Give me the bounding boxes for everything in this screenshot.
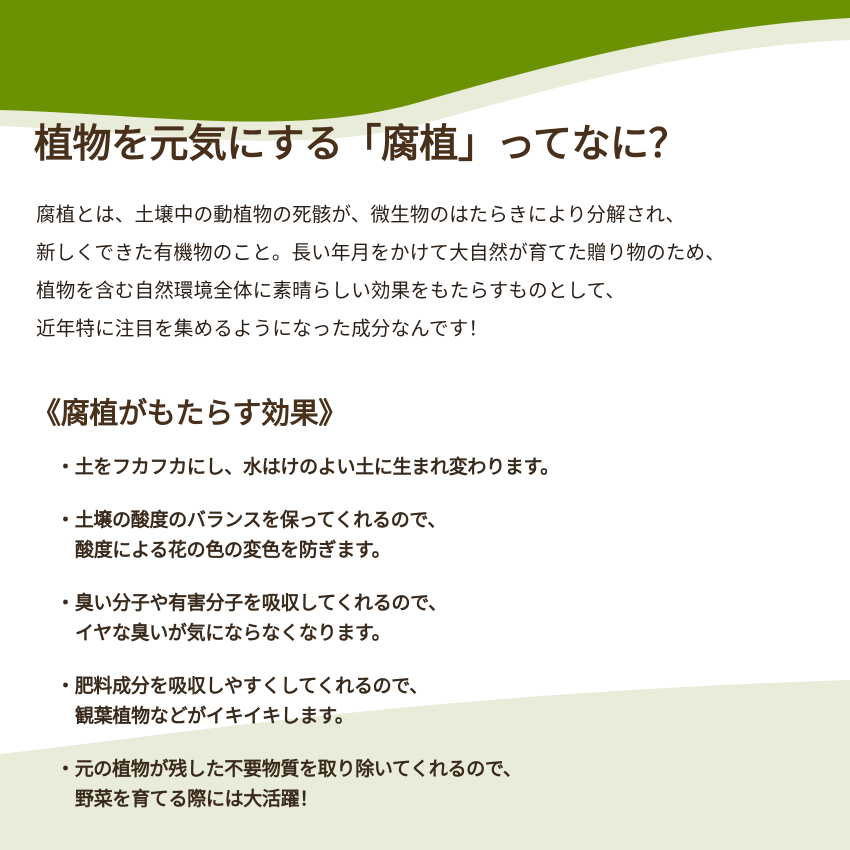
intro-line-4: 近年特に注目を集めるようになった成分なんです！: [36, 310, 836, 348]
effects-section-heading: 《腐植がもたらす効果》: [32, 398, 347, 430]
intro-paragraph: 腐植とは、土壌中の動植物の死骸が、微生物のはたらきにより分解され、 新しくできた…: [36, 196, 836, 348]
effect-2-line-2: 酸度による花の色の変色を防ぎます。: [56, 535, 826, 565]
list-item: ・土をフカフカにし、水はけのよい土に生まれ変わります。: [56, 452, 826, 482]
list-item: ・肥料成分を吸収しやすくしてくれるので、 観葉植物などがイキイキします。: [56, 671, 826, 731]
effect-3-line-1: ・臭い分子や有害分子を吸収してくれるので、: [56, 588, 826, 618]
page-content: 植物を元気にする「腐植」ってなに？ 腐植とは、土壌中の動植物の死骸が、微生物のは…: [0, 0, 850, 850]
list-item: ・土壌の酸度のバランスを保ってくれるので、 酸度による花の色の変色を防ぎます。: [56, 505, 826, 565]
infographic-page: 植物を元気にする「腐植」ってなに？ 腐植とは、土壌中の動植物の死骸が、微生物のは…: [0, 0, 850, 850]
list-item: ・元の植物が残した不要物質を取り除いてくれるので、 野菜を育てる際には大活躍！: [56, 754, 826, 814]
page-title: 植物を元気にする「腐植」ってなに？: [34, 123, 687, 167]
intro-line-1: 腐植とは、土壌中の動植物の死骸が、微生物のはたらきにより分解され、: [36, 196, 836, 234]
effect-1-line-1: ・土をフカフカにし、水はけのよい土に生まれ変わります。: [56, 452, 826, 482]
intro-line-3: 植物を含む自然環境全体に素晴らしい効果をもたらすものとして、: [36, 272, 836, 310]
intro-line-2: 新しくできた有機物のこと。長い年月をかけて大自然が育てた贈り物のため、: [36, 234, 836, 272]
effect-2-line-1: ・土壌の酸度のバランスを保ってくれるので、: [56, 505, 826, 535]
effect-5-line-2: 野菜を育てる際には大活躍！: [56, 784, 826, 814]
effect-5-line-1: ・元の植物が残した不要物質を取り除いてくれるので、: [56, 754, 826, 784]
effect-3-line-2: イヤな臭いが気にならなくなります。: [56, 618, 826, 648]
effect-4-line-2: 観葉植物などがイキイキします。: [56, 701, 826, 731]
list-item: ・臭い分子や有害分子を吸収してくれるので、 イヤな臭いが気にならなくなります。: [56, 588, 826, 648]
effect-4-line-1: ・肥料成分を吸収しやすくしてくれるので、: [56, 671, 826, 701]
effects-list: ・土をフカフカにし、水はけのよい土に生まれ変わります。 ・土壌の酸度のバランスを…: [56, 452, 826, 814]
